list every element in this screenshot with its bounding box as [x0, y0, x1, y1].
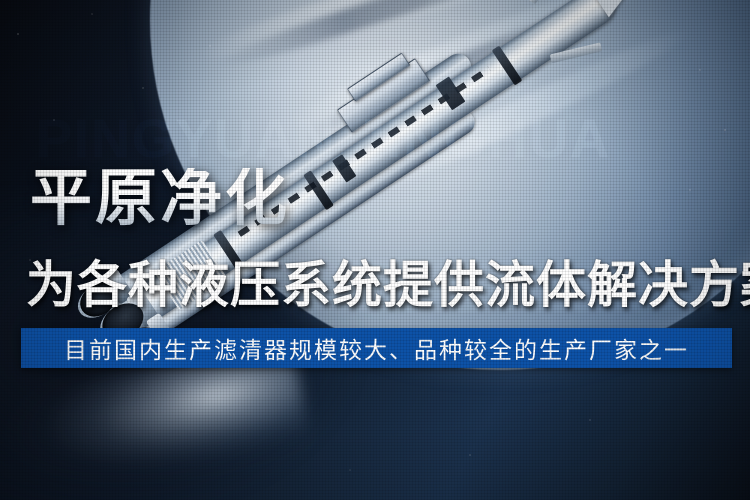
watermark-pinyin-text: PINGYUAN JINGHUA — [36, 112, 611, 166]
banner-title: 平原净化 — [30, 168, 290, 230]
star-field — [0, 0, 750, 500]
tagline-ribbon-text: 目前国内生产滤清器规模较大、品种较全的生产厂家之一 — [64, 331, 689, 365]
promotional-banner: PINGYUAN JINGHUA 平原净化 为各种液压系统提供流体解决方案 目前… — [0, 0, 750, 500]
tagline-ribbon: 目前国内生产滤清器规模较大、品种较全的生产厂家之一 — [21, 328, 732, 368]
banner-subtitle: 为各种液压系统提供流体解决方案 — [26, 260, 750, 310]
